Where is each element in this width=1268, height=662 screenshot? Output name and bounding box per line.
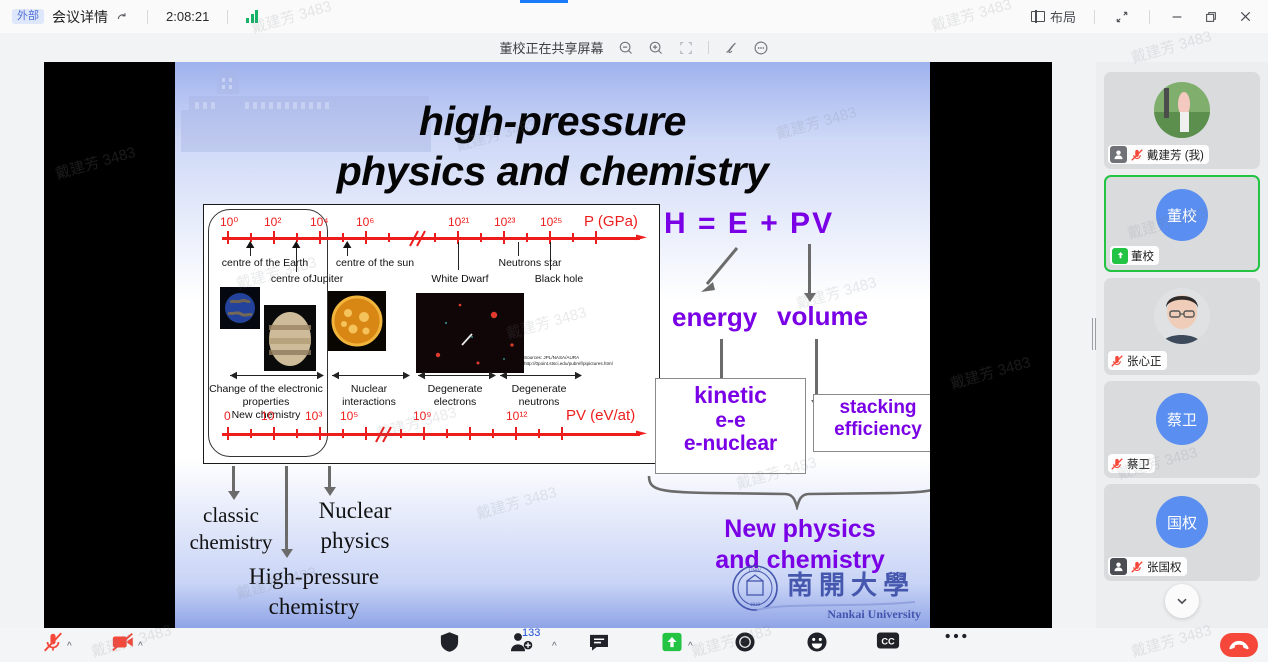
region-arrowheads (224, 370, 584, 381)
top-axis-arrowhead (636, 231, 650, 245)
bottom-tick-label-0: 0 (224, 409, 231, 423)
region-line: properties (206, 396, 326, 409)
arrow-volume-to-stacking (815, 339, 818, 401)
svg-text:UNIV: UNIV (749, 569, 762, 574)
layout-label: 布局 (1050, 7, 1076, 26)
axis-tick (319, 231, 321, 244)
arrow-eq-to-energy (693, 244, 743, 300)
shared-screen-stage[interactable]: high-pressure physics and chemistry (0, 62, 1096, 628)
meeting-duration: 2:08:21 (166, 9, 209, 24)
share-status-text: 董校正在共享屏幕 (499, 38, 603, 57)
reaction-icon (806, 631, 828, 653)
axis-tick (561, 427, 563, 440)
figure-source-text: Sources: JPL/NASA/AURA http://0point.sts… (524, 355, 650, 366)
region-label-degenerate-electrons: Degenerate electrons (412, 383, 498, 409)
participant-tile[interactable]: 国权 张国权 (1104, 484, 1260, 581)
stacking-line-1: stacking (814, 397, 930, 419)
slide-title-line1: high-pressure (175, 96, 930, 146)
axis-tick (503, 231, 505, 244)
participants-sidebar[interactable]: 戴建芳 (我) 董校 董校 张心正 蔡卫 蔡卫 (1096, 62, 1268, 628)
more-circle-icon[interactable] (753, 40, 769, 56)
axis-tick (480, 233, 482, 242)
participant-nameplate: 张国权 (1108, 557, 1187, 576)
shared-video-frame: high-pressure physics and chemistry (44, 62, 1052, 628)
nankai-university-logo: UNIV 1919 南開大學 Nankai University (729, 562, 924, 624)
zoom-in-icon[interactable] (648, 40, 664, 56)
stacking-line-2: efficiency (814, 419, 930, 441)
callout-centre-jupiter: centre ofJupiter (254, 273, 360, 285)
avatar: 董校 (1156, 189, 1208, 241)
new-physics-line-1: New physics (665, 514, 930, 545)
divider (708, 41, 709, 54)
label-nuclear-physics: Nuclear physics (295, 496, 415, 557)
callout-white-dwarf: White Dwarf (420, 273, 500, 285)
bottom-tick-label-3: 10⁵ (340, 409, 358, 423)
top-axis-label: P (GPa) (584, 213, 638, 230)
external-badge: 外部 (12, 9, 44, 24)
end-call-button[interactable] (1220, 633, 1258, 657)
kinetic-line-1: kinetic (656, 383, 805, 409)
enthalpy-equation: H = E + PV (664, 207, 834, 241)
participants-options-caret[interactable]: ^ (552, 641, 557, 652)
svg-text:大: 大 (851, 571, 877, 600)
axis-tick (492, 429, 494, 438)
meeting-title: 会议详情 (52, 7, 108, 27)
avatar: 蔡卫 (1156, 393, 1208, 445)
mic-off-icon (1110, 354, 1124, 368)
restore-button[interactable] (1194, 0, 1228, 33)
svg-text:學: 學 (883, 571, 909, 600)
avatar (1154, 82, 1210, 138)
video-options-caret[interactable]: ^ (138, 641, 143, 652)
participant-tile[interactable]: 蔡卫 蔡卫 (1104, 381, 1260, 478)
mic-off-icon (1130, 148, 1144, 162)
earth-photo (220, 287, 260, 329)
label-line: chemistry (199, 592, 429, 622)
svg-text:CC: CC (881, 637, 895, 647)
axis-tick (434, 233, 436, 242)
sun-photo (328, 291, 386, 351)
region-label-degenerate-neutrons: Degenerate neutrons (496, 383, 582, 409)
label-line: classic (175, 502, 291, 529)
axis-tick (526, 233, 528, 242)
minimize-button[interactable] (1160, 0, 1194, 33)
jupiter-photo (264, 305, 316, 371)
label-line: Nuclear (295, 496, 415, 526)
top-tick-label-4: 10²¹ (448, 215, 469, 229)
callout-centre-earth: centre of the Earth (206, 257, 324, 269)
callout-arrowhead (292, 241, 301, 249)
arrow-to-nuclear (328, 466, 331, 488)
close-button[interactable] (1228, 0, 1262, 33)
nankai-logo-text: Nankai University (827, 607, 921, 621)
divider (227, 10, 228, 24)
watermark: 戴建芳 3483 (474, 481, 559, 524)
share-options-caret[interactable]: ^ (688, 641, 693, 652)
share-status-bar: 董校正在共享屏幕 (0, 33, 1268, 62)
divider (1094, 10, 1095, 24)
axis-tick (400, 429, 402, 438)
axis-tick (572, 233, 574, 242)
label-line: physics (295, 526, 415, 556)
axis-tick (515, 427, 517, 440)
region-line: Degenerate (496, 383, 582, 396)
bottom-tick-label-1: 10 (261, 409, 274, 423)
participant-name: 蔡卫 (1127, 456, 1150, 472)
region-line: Degenerate (412, 383, 498, 396)
pen-icon[interactable] (723, 40, 739, 56)
slide-title-line2: physics and chemistry (175, 146, 930, 196)
kinetic-line-2: e-e (656, 409, 805, 433)
callout-centre-sun: centre of the sun (320, 257, 430, 269)
restore-icon (1204, 10, 1218, 24)
host-icon (1110, 146, 1127, 163)
axis-tick (388, 233, 390, 242)
callout-arrowhead (343, 241, 352, 249)
region-line: Nuclear (328, 383, 410, 396)
bottom-axis-label: PV (eV/at) (566, 407, 635, 424)
axis-tick (273, 427, 275, 440)
record-button[interactable] (718, 631, 772, 653)
avatar: 国权 (1156, 496, 1208, 548)
region-line: electrons (412, 396, 498, 409)
more-button[interactable] (929, 631, 983, 641)
arrow-eq-to-volume (808, 244, 811, 294)
top-progress-indicator (520, 0, 568, 3)
energy-label: energy (672, 302, 757, 333)
bottom-tick-label-2: 10³ (305, 409, 322, 423)
axis-tick (469, 427, 471, 440)
callout-arrowhead (246, 241, 255, 249)
region-line: interactions (328, 396, 410, 409)
slide-title: high-pressure physics and chemistry (175, 96, 930, 196)
chat-button[interactable] (572, 631, 626, 653)
share-screen-icon (661, 631, 683, 653)
deep-space-photo (416, 293, 524, 373)
participants-button[interactable]: 133 (496, 631, 550, 653)
axis-tick (250, 429, 252, 438)
divider (147, 10, 148, 24)
axis-tick (227, 231, 229, 244)
arrow-to-classic (232, 466, 235, 492)
region-label-nuclear: Nuclear interactions (328, 383, 410, 409)
axis-tick (273, 231, 275, 244)
axis-tick (296, 429, 298, 438)
axis-break-marks (404, 228, 432, 248)
reactions-button[interactable] (790, 631, 844, 653)
mic-off-icon (1130, 560, 1144, 574)
axis-tick (423, 427, 425, 440)
mic-off-icon (42, 631, 64, 653)
axis-tick (342, 429, 344, 438)
axis-tick (595, 231, 597, 244)
end-call-icon (1228, 639, 1250, 651)
mute-options-caret[interactable]: ^ (67, 641, 72, 652)
watermark: 戴建芳 3483 (948, 351, 1033, 394)
avatar (1154, 288, 1210, 344)
bottom-tick-label-5: 10¹² (506, 409, 527, 423)
participant-nameplate: 董校 (1110, 246, 1159, 265)
participant-nameplate: 张心正 (1108, 351, 1167, 370)
svg-text:開: 開 (819, 571, 845, 600)
chat-icon (588, 631, 610, 653)
participant-name: 戴建芳 (我) (1147, 147, 1204, 163)
region-line: Change of the electronic (206, 383, 326, 396)
participant-tile[interactable]: 董校 董校 (1104, 175, 1260, 272)
pressure-scale-figure: 10⁰ 10² 10⁴ 10⁶ 10²¹ 10²³ 10²⁵ P (GPa) c… (203, 204, 660, 464)
shield-icon (439, 631, 460, 653)
security-button[interactable] (422, 631, 476, 653)
top-tick-label-1: 10² (264, 215, 281, 229)
signal-strength-icon (246, 10, 258, 23)
presentation-slide: high-pressure physics and chemistry (175, 62, 930, 628)
video-off-icon (111, 631, 135, 653)
callout-neutron-star: Neutrons star (488, 257, 572, 269)
divider (1149, 10, 1150, 24)
bottom-tick-label-4: 10⁹ (413, 409, 432, 423)
axis-tick (538, 429, 540, 438)
layout-icon (1031, 11, 1045, 22)
svg-text:南: 南 (787, 571, 813, 600)
top-tick-label-5: 10²³ (494, 215, 515, 229)
host-icon (1110, 558, 1127, 575)
label-line: chemistry (175, 529, 291, 556)
participant-nameplate: 戴建芳 (我) (1108, 145, 1209, 164)
screen-share-icon (1112, 248, 1128, 264)
cc-icon: CC (876, 631, 900, 650)
label-line: High-pressure (199, 562, 429, 592)
brace-to-new-physics (647, 474, 930, 510)
axis-tick (319, 427, 321, 440)
participant-name: 张国权 (1147, 559, 1182, 575)
watermark: 戴建芳 3483 (53, 141, 138, 184)
label-classic-chemistry: classic chemistry (175, 502, 291, 557)
top-tick-label-3: 10⁶ (356, 215, 374, 229)
callout-line (458, 242, 459, 270)
zoom-out-icon[interactable] (618, 40, 634, 56)
top-tick-label-2: 10⁴ (310, 215, 329, 229)
minimize-icon (1170, 10, 1184, 24)
captions-button[interactable]: CC (861, 631, 915, 650)
participant-name: 张心正 (1127, 353, 1162, 369)
axis-break-marks (370, 424, 398, 444)
callout-line (518, 242, 519, 256)
kinetic-line-3: e-nuclear (656, 432, 805, 456)
record-icon (734, 631, 756, 653)
label-highpressure-chemistry: High-pressure chemistry (199, 562, 429, 623)
participant-tile[interactable]: 戴建芳 (我) (1104, 72, 1260, 169)
close-icon (1238, 9, 1253, 24)
bottom-axis-line (222, 433, 640, 436)
axis-tick (365, 427, 367, 440)
fit-screen-icon[interactable] (678, 40, 694, 56)
axis-tick (227, 427, 229, 440)
bottom-axis-arrowhead (636, 427, 650, 441)
participant-nameplate: 蔡卫 (1108, 454, 1155, 473)
title-bar: 外部 会议详情 2:08:21 布局 (0, 0, 1268, 33)
kinetic-box: kinetic e-e e-nuclear (655, 378, 806, 474)
fullscreen-button[interactable] (1105, 0, 1139, 33)
share-arrow-icon[interactable] (116, 10, 129, 23)
stacking-box: stacking efficiency (813, 394, 930, 452)
meeting-toolbar: ^ ^ 133 ^ ^ CC 戴建芳 3483 戴建芳 3483 (0, 628, 1268, 662)
more-icon (944, 631, 968, 641)
participants-count: 133 (522, 627, 540, 639)
callout-black-hole: Black hole (522, 273, 596, 285)
chevron-down-icon (1174, 593, 1190, 609)
svg-text:1919: 1919 (750, 603, 761, 608)
top-tick-label-6: 10²⁵ (540, 215, 562, 229)
axis-tick (446, 429, 448, 438)
participant-name: 董校 (1131, 248, 1154, 264)
axis-tick (365, 231, 367, 244)
scroll-down-button[interactable] (1165, 584, 1199, 618)
expand-icon (1115, 10, 1129, 24)
layout-button[interactable]: 布局 (1023, 0, 1084, 33)
participant-tile[interactable]: 张心正 (1104, 278, 1260, 375)
volume-label: volume (777, 301, 868, 332)
mic-off-icon (1110, 457, 1124, 471)
top-tick-label-0: 10⁰ (220, 215, 238, 229)
